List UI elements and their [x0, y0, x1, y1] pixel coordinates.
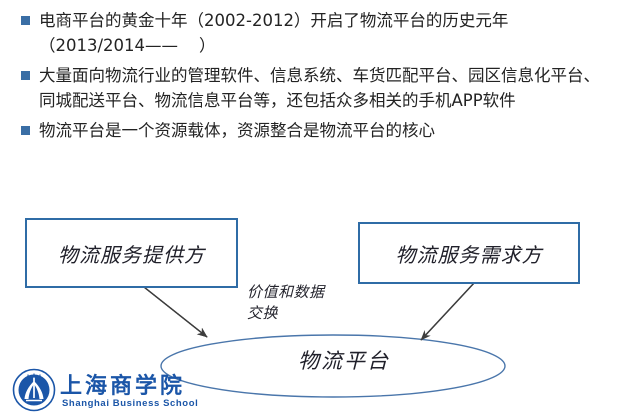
demander-box: 物流服务需求方: [358, 222, 580, 284]
provider-box: 物流服务提供方: [25, 218, 238, 288]
bullet-item-2: 大量面向物流行业的管理软件、信息系统、车货匹配平台、园区信息化平台、同城配送平台…: [8, 63, 610, 113]
bullet-item-1-text: 电商平台的黄金十年（2002-2012）开启了物流平台的历史元年（2013/20…: [39, 8, 610, 58]
square-bullet-icon: [21, 16, 30, 25]
school-logo: 上海商学院 Shanghai Business School: [12, 366, 212, 418]
square-bullet-icon: [21, 71, 30, 80]
shanghai-business-school-emblem-icon: [12, 368, 56, 412]
bullet-item-3-text: 物流平台是一个资源载体，资源整合是物流平台的核心: [39, 118, 610, 143]
provider-box-label: 物流服务提供方: [58, 239, 205, 268]
exchange-label: 价值和数据 交换: [247, 282, 325, 324]
bullet-item-3: 物流平台是一个资源载体，资源整合是物流平台的核心: [8, 118, 610, 143]
bullet-item-2-text: 大量面向物流行业的管理软件、信息系统、车货匹配平台、园区信息化平台、同城配送平台…: [39, 63, 610, 113]
platform-ellipse-label: 物流平台: [228, 349, 390, 373]
exchange-label-line-2: 交换: [247, 303, 325, 324]
logo-english-name: Shanghai Business School: [62, 398, 198, 409]
square-bullet-icon: [21, 126, 30, 135]
exchange-label-line-1: 价值和数据: [247, 282, 325, 303]
bullet-item-1: 电商平台的黄金十年（2002-2012）开启了物流平台的历史元年（2013/20…: [8, 8, 610, 58]
demander-box-label: 物流服务需求方: [396, 239, 543, 268]
logo-chinese-name: 上海商学院: [60, 368, 185, 400]
bullet-list: 电商平台的黄金十年（2002-2012）开启了物流平台的历史元年（2013/20…: [0, 0, 618, 148]
